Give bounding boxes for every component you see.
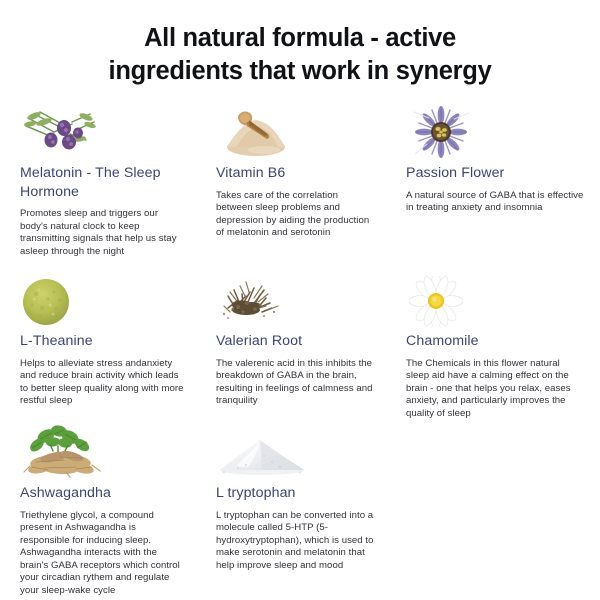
chamomile-daisy-icon [406,272,586,326]
wooden-scoop-powder-icon [216,104,374,158]
ingredient-description: A natural source of GABA that is effecti… [406,190,584,215]
ingredient-card-valerian-root: Valerian Root The valerenic acid in this… [198,272,388,424]
ingredient-title: Vitamin B6 [216,164,374,183]
ingredient-description: Takes care of the correlation between sl… [216,190,374,240]
ingredient-card-l-tryptophan: L tryptophan L tryptophan can be convert… [198,424,388,600]
ingredient-description: Triethylene glycol, a compound present i… [20,510,184,598]
ingredient-description: Promotes sleep and triggers our body's n… [20,208,184,258]
ingredient-title: L-Theanine [20,332,184,351]
ingredient-card-vitamin-b6: Vitamin B6 Takes care of the correlation… [198,104,388,272]
ingredient-description: The valerenic acid in this inhibits the … [216,358,374,408]
ingredient-description: The Chemicals in this flower natural sle… [406,358,584,421]
page-title: All natural formula - active ingredients… [0,0,600,88]
ingredients-infographic: All natural formula - active ingredients… [0,0,600,600]
ingredient-title: Passion Flower [406,164,586,183]
ingredient-card-melatonin: Melatonin - The Sleep Hormone Promotes s… [0,104,198,272]
lavender-sprig-icon [20,104,184,158]
page-title-line-1: All natural formula - active [34,22,566,55]
ingredient-title: Chamomile [406,332,586,351]
ingredient-title: L tryptophan [216,484,374,503]
ingredient-title: Valerian Root [216,332,374,351]
ingredient-card-chamomile: Chamomile The Chemicals in this flower n… [388,272,600,424]
ingredient-card-passion-flower: Passion Flower A natural source of GABA … [388,104,600,272]
ingredient-row: Melatonin - The Sleep Hormone Promotes s… [0,104,600,272]
ingredient-card-ashwagandha: Ashwagandha Triethylene glycol, a compou… [0,424,198,600]
valerian-root-pile-icon [216,272,374,326]
ingredient-title: Ashwagandha [20,484,184,503]
white-powder-mound-icon [216,424,374,478]
ingredient-title: Melatonin - The Sleep Hormone [20,164,184,201]
ingredient-row: Ashwagandha Triethylene glycol, a compou… [0,424,600,600]
passion-flower-icon [406,104,586,158]
ingredient-description: L tryptophan can be converted into a mol… [216,510,374,573]
page-title-line-2: ingredients that work in synergy [34,55,566,88]
ingredient-row: L-Theanine Helps to alleviate stress and… [0,272,600,424]
ingredient-grid: Melatonin - The Sleep Hormone Promotes s… [0,104,600,600]
ingredient-card-l-theanine: L-Theanine Helps to alleviate stress and… [0,272,198,424]
ingredient-card-empty [388,424,600,600]
ingredient-description: Helps to alleviate stress andanxiety and… [20,358,184,408]
green-powder-circle-icon [20,272,184,326]
ashwagandha-root-icon [20,424,184,478]
